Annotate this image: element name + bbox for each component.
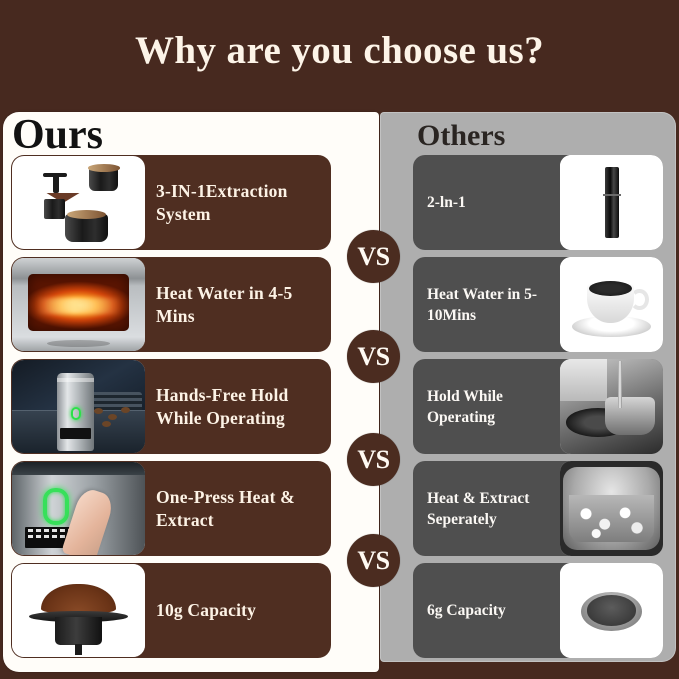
coffee-grounds-on-filter-icon bbox=[12, 564, 145, 657]
ours-thumb-5 bbox=[12, 564, 145, 657]
ours-row-3: Hands-Free Hold While Operating bbox=[11, 359, 331, 454]
others-row-1: 2-ln-1 bbox=[413, 155, 663, 250]
others-row-label-3: Hold While Operating bbox=[427, 359, 555, 454]
page-title: Why are you choose us? bbox=[0, 28, 679, 74]
ours-row-2: Heat Water in 4-5 Mins bbox=[11, 257, 331, 352]
ours-row-1: 3-IN-1Extraction System bbox=[11, 155, 331, 250]
ours-row-label-2: Heat Water in 4-5 Mins bbox=[156, 257, 324, 352]
vs-badge-1: VS bbox=[347, 230, 400, 283]
others-row-label-5: 6g Capacity bbox=[427, 563, 555, 658]
others-thumb-3 bbox=[560, 359, 663, 454]
comparison-infographic: Why are you choose us? Ours 3-IN-1Extrac… bbox=[0, 0, 679, 679]
vs-badge-2: VS bbox=[347, 330, 400, 383]
finger-pressing-green-button-icon bbox=[12, 462, 145, 555]
black-tube-device-icon bbox=[560, 155, 663, 250]
ours-thumb-1 bbox=[12, 156, 145, 249]
ours-row-label-1: 3-IN-1Extraction System bbox=[156, 155, 324, 250]
glowing-heating-chamber-icon bbox=[12, 258, 145, 351]
ours-heading: Ours bbox=[12, 113, 103, 157]
others-heading: Others bbox=[417, 119, 505, 153]
others-thumb-5 bbox=[560, 563, 663, 658]
others-thumb-1 bbox=[560, 155, 663, 250]
vs-badge-4: VS bbox=[347, 534, 400, 587]
ours-row-label-4: One-Press Heat & Extract bbox=[156, 461, 324, 556]
others-thumb-2 bbox=[560, 257, 663, 352]
ours-row-5: 10g Capacity bbox=[11, 563, 331, 658]
others-row-3: Hold While Operating bbox=[413, 359, 663, 454]
others-row-2: Heat Water in 5-10Mins bbox=[413, 257, 663, 352]
vs-badge-3: VS bbox=[347, 433, 400, 486]
ours-thumb-4 bbox=[12, 462, 145, 555]
others-row-4: Heat & Extract Seperately bbox=[413, 461, 663, 556]
ours-thumb-2 bbox=[12, 258, 145, 351]
bottle-in-car-cupholder-icon bbox=[12, 360, 145, 453]
flat-coffee-pod-icon bbox=[560, 563, 663, 658]
others-row-label-1: 2-ln-1 bbox=[427, 155, 555, 250]
others-row-label-4: Heat & Extract Seperately bbox=[427, 461, 555, 556]
boiling-water-pan-icon bbox=[560, 461, 663, 556]
others-row-5: 6g Capacity bbox=[413, 563, 663, 658]
ours-row-label-3: Hands-Free Hold While Operating bbox=[156, 359, 324, 454]
others-row-label-2: Heat Water in 5-10Mins bbox=[427, 257, 555, 352]
others-thumb-4 bbox=[560, 461, 663, 556]
ours-row-label-5: 10g Capacity bbox=[156, 563, 324, 658]
ours-row-4: One-Press Heat & Extract bbox=[11, 461, 331, 556]
ours-thumb-3 bbox=[12, 360, 145, 453]
espresso-cup-icon bbox=[560, 257, 663, 352]
stovetop-moka-pot-icon bbox=[560, 359, 663, 454]
three-capsule-parts-icon bbox=[12, 156, 145, 249]
